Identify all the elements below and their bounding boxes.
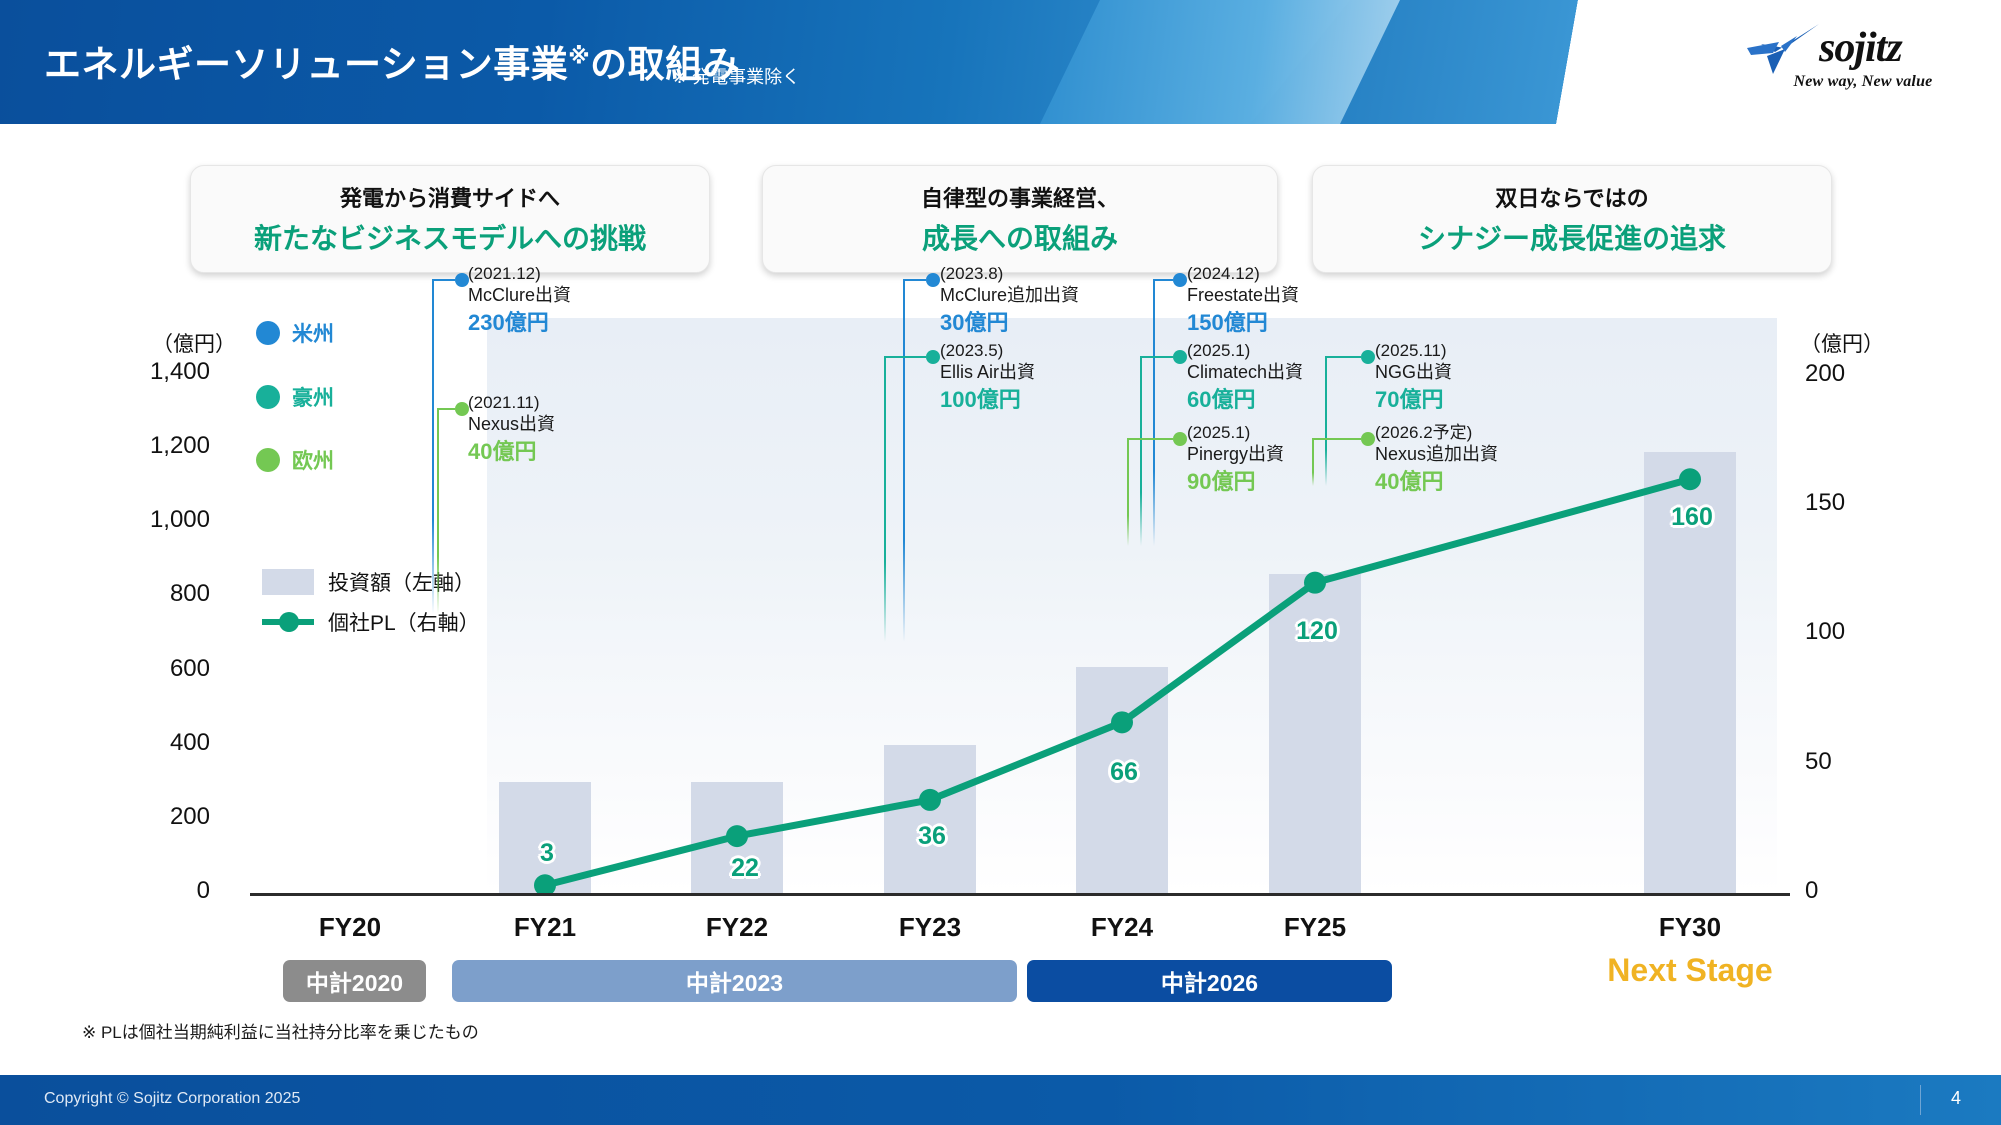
phase-bar: 中計2026 bbox=[1027, 960, 1392, 1002]
annotation-dot-icon bbox=[455, 402, 469, 416]
message-box-3-line1: 双日ならではの bbox=[1495, 181, 1648, 213]
annotation-dot-icon bbox=[1173, 432, 1187, 446]
investment-annotation: (2021.11)Nexus出資40億円 bbox=[468, 392, 555, 466]
annotation-amount: 30億円 bbox=[940, 308, 1079, 338]
pl-point-label: 66 bbox=[1110, 758, 1138, 787]
page-subtitle: ※ 発電事業除く bbox=[672, 63, 800, 89]
message-box-3: 双日ならではの シナジー成長促進の追求 bbox=[1312, 165, 1832, 273]
annotation-name: McClure出資 bbox=[468, 284, 571, 307]
annotation-dot-icon bbox=[455, 273, 469, 287]
annotation-date: (2025.1) bbox=[1187, 340, 1303, 361]
message-box-3-line2: シナジー成長促進の追求 bbox=[1418, 217, 1726, 257]
pl-point-label: 120 bbox=[1296, 617, 1338, 646]
annotation-date: (2026.2予定) bbox=[1375, 422, 1498, 443]
annotation-date: (2024.12) bbox=[1187, 263, 1299, 284]
annotation-leader-horizontal bbox=[903, 279, 926, 281]
annotation-leader-vertical bbox=[1153, 279, 1155, 546]
annotation-dot-icon bbox=[926, 350, 940, 364]
message-box-2-line2: 成長への取組み bbox=[922, 217, 1118, 257]
annotation-leader-horizontal bbox=[432, 279, 455, 281]
x-axis-line bbox=[250, 893, 1790, 896]
page-number: 4 bbox=[1951, 1088, 1961, 1109]
next-stage-label: Next Stage bbox=[1607, 952, 1772, 989]
x-axis-label: FY21 bbox=[514, 912, 576, 943]
message-box-1-line2: 新たなビジネスモデルへの挑戦 bbox=[254, 217, 646, 257]
phase-bar: 中計2020 bbox=[283, 960, 426, 1002]
annotation-leader-horizontal bbox=[1140, 356, 1173, 358]
pl-point-label: 36 bbox=[918, 822, 946, 851]
annotation-name: Climatech出資 bbox=[1187, 361, 1303, 384]
annotation-dot-icon bbox=[1361, 432, 1375, 446]
message-box-1: 発電から消費サイドへ 新たなビジネスモデルへの挑戦 bbox=[190, 165, 710, 273]
annotation-date: (2023.8) bbox=[940, 263, 1079, 284]
header-band-accent bbox=[1040, 0, 1400, 124]
investment-bar bbox=[884, 745, 976, 893]
annotation-amount: 40億円 bbox=[1375, 467, 1498, 497]
annotation-name: McClure追加出資 bbox=[940, 284, 1079, 307]
investment-pl-chart: （億円） （億円） 02004006008001,0001,2001,400 0… bbox=[0, 300, 2001, 1000]
annotation-leader-horizontal bbox=[1325, 356, 1361, 358]
annotation-leader-horizontal bbox=[1153, 279, 1173, 281]
investment-annotation: (2025.1)Climatech出資60億円 bbox=[1187, 340, 1303, 414]
annotation-amount: 100億円 bbox=[940, 385, 1035, 415]
message-box-2-line1: 自律型の事業経営、 bbox=[921, 181, 1119, 213]
investment-annotation: (2025.11)NGG出資70億円 bbox=[1375, 340, 1452, 414]
annotation-leader-horizontal bbox=[1127, 438, 1173, 440]
annotation-amount: 90億円 bbox=[1187, 467, 1284, 497]
annotation-leader-horizontal bbox=[1312, 438, 1361, 440]
message-box-1-line1: 発電から消費サイドへ bbox=[340, 181, 560, 213]
investment-annotation: (2023.5)Ellis Air出資100億円 bbox=[940, 340, 1035, 414]
annotation-leader-vertical bbox=[1325, 356, 1327, 486]
annotation-name: Nexus出資 bbox=[468, 413, 555, 436]
logo-wordmark: sojitz bbox=[1819, 24, 1902, 72]
investment-bar bbox=[499, 782, 591, 893]
annotation-name: NGG出資 bbox=[1375, 361, 1452, 384]
pl-point-label: 22 bbox=[731, 854, 759, 883]
annotation-dot-icon bbox=[1361, 350, 1375, 364]
footer-divider bbox=[1920, 1085, 1921, 1115]
annotation-amount: 150億円 bbox=[1187, 308, 1299, 338]
x-axis-label: FY24 bbox=[1091, 912, 1153, 943]
annotation-date: (2021.12) bbox=[468, 263, 571, 284]
message-box-2: 自律型の事業経営、 成長への取組み bbox=[762, 165, 1278, 273]
annotation-dot-icon bbox=[926, 273, 940, 287]
page-title-main: エネルギーソリューション事業 bbox=[44, 44, 568, 85]
slide-header: エネルギーソリューション事業※の取組み ※ 発電事業除く sojitz New … bbox=[0, 0, 2001, 124]
annotation-amount: 70億円 bbox=[1375, 385, 1452, 415]
annotation-date: (2025.11) bbox=[1375, 340, 1452, 361]
annotation-name: Nexus追加出資 bbox=[1375, 443, 1498, 466]
x-axis-label: FY20 bbox=[319, 912, 381, 943]
annotation-amount: 40億円 bbox=[468, 437, 555, 467]
annotation-date: (2021.11) bbox=[468, 392, 555, 413]
logo-tagline: New way, New value bbox=[1751, 73, 1975, 91]
investment-annotation: (2021.12)McClure出資230億円 bbox=[468, 263, 571, 337]
annotation-leader-vertical bbox=[437, 408, 439, 614]
pl-point-label: 3 bbox=[540, 839, 554, 868]
annotation-amount: 230億円 bbox=[468, 308, 571, 338]
investment-annotation: (2025.1)Pinergy出資90億円 bbox=[1187, 422, 1284, 496]
annotation-name: Freestate出資 bbox=[1187, 284, 1299, 307]
annotation-dot-icon bbox=[1173, 273, 1187, 287]
page-title: エネルギーソリューション事業※の取組み bbox=[44, 34, 740, 88]
annotation-name: Ellis Air出資 bbox=[940, 361, 1035, 384]
annotation-amount: 60億円 bbox=[1187, 385, 1303, 415]
investment-annotation: (2023.8)McClure追加出資30億円 bbox=[940, 263, 1079, 337]
phase-bar: 中計2023 bbox=[452, 960, 1017, 1002]
sojitz-logo: sojitz New way, New value bbox=[1745, 18, 1975, 104]
annotation-leader-horizontal bbox=[884, 356, 926, 358]
annotation-leader-vertical bbox=[1140, 356, 1142, 546]
annotation-dot-icon bbox=[1173, 350, 1187, 364]
x-axis-label: FY22 bbox=[706, 912, 768, 943]
x-axis-label: FY30 bbox=[1659, 912, 1721, 943]
copyright-text: Copyright © Sojitz Corporation 2025 bbox=[44, 1090, 300, 1108]
page-title-asterisk: ※ bbox=[568, 44, 590, 69]
investment-annotation: (2024.12)Freestate出資150億円 bbox=[1187, 263, 1299, 337]
sojitz-mark-icon bbox=[1745, 22, 1823, 76]
annotation-date: (2023.5) bbox=[940, 340, 1035, 361]
annotation-leader-horizontal bbox=[437, 408, 455, 410]
footnote: ※ PLは個社当期純利益に当社持分比率を乗じたもの bbox=[82, 1018, 479, 1043]
annotation-leader-vertical bbox=[884, 356, 886, 642]
annotation-leader-vertical bbox=[903, 279, 905, 642]
x-axis-label: FY25 bbox=[1284, 912, 1346, 943]
pl-point-label: 160 bbox=[1671, 503, 1713, 532]
annotation-date: (2025.1) bbox=[1187, 422, 1284, 443]
annotation-leader-vertical bbox=[1312, 438, 1314, 486]
slide-footer: Copyright © Sojitz Corporation 2025 4 bbox=[0, 1075, 2001, 1125]
annotation-name: Pinergy出資 bbox=[1187, 443, 1284, 466]
investment-annotation: (2026.2予定)Nexus追加出資40億円 bbox=[1375, 422, 1498, 496]
x-axis-label: FY23 bbox=[899, 912, 961, 943]
annotation-leader-vertical bbox=[1127, 438, 1129, 546]
annotation-leader-vertical bbox=[432, 279, 434, 614]
